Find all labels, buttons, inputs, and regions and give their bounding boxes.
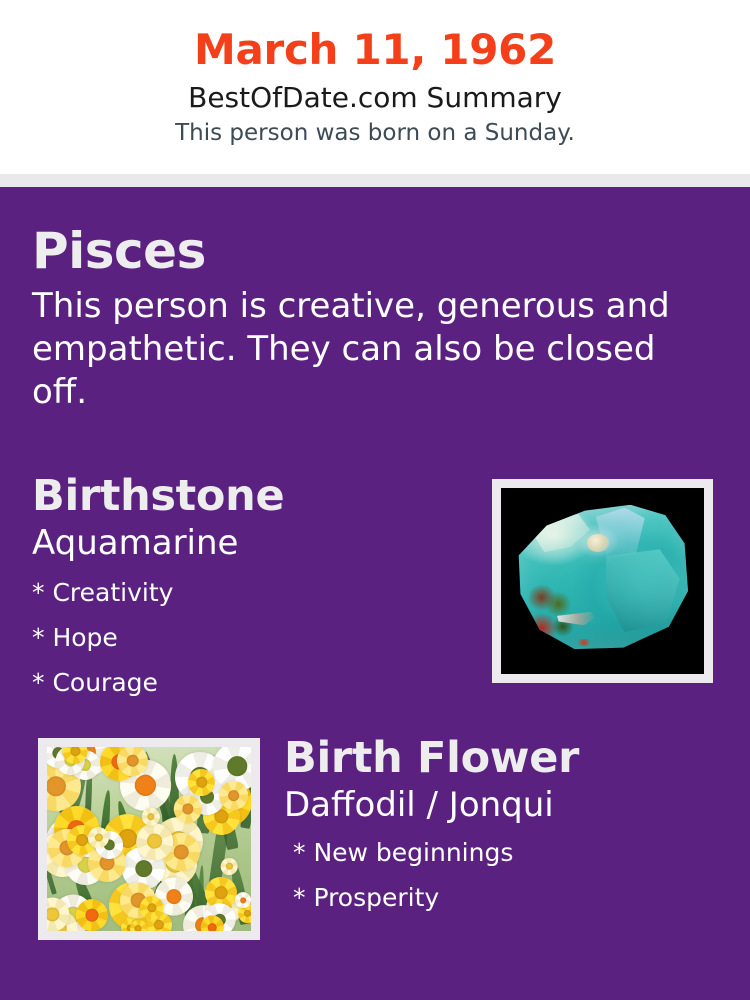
list-item: * Creativity (32, 570, 472, 615)
list-item: * Hope (32, 615, 472, 660)
birthstone-section: Birthstone Aquamarine * Creativity * Hop… (32, 470, 472, 705)
zodiac-description: This person is creative, generous and em… (32, 285, 704, 414)
divider-top-line (0, 170, 750, 174)
page-title-date: March 11, 1962 (0, 24, 750, 76)
birthflower-heading: Birth Flower (284, 732, 724, 784)
crystal-facet-icon (606, 549, 683, 635)
zodiac-sign-name: Pisces (32, 222, 722, 280)
birthflower-section: Birth Flower Daffodil / Jonqui * New beg… (284, 732, 724, 920)
birthstone-image-frame (492, 479, 713, 683)
list-item: * New beginnings (284, 830, 724, 875)
crystal-redpoint-icon (576, 639, 592, 646)
birthstone-heading: Birthstone (32, 470, 472, 522)
crystal-body (515, 505, 690, 654)
aquamarine-crystal-photo (501, 488, 704, 674)
birthflower-trait-list: * New beginnings * Prosperity (284, 830, 724, 920)
crystal-inclusion-icon (524, 579, 583, 644)
header: March 11, 1962 BestOfDate.com Summary Th… (0, 0, 750, 170)
summary-card: March 11, 1962 BestOfDate.com Summary Th… (0, 0, 750, 1000)
birthstone-trait-list: * Creativity * Hope * Courage (32, 570, 472, 705)
birthflower-name: Daffodil / Jonqui (284, 784, 724, 826)
list-item: * Courage (32, 660, 472, 705)
birthstone-name: Aquamarine (32, 522, 472, 564)
daffodil-field-photo (47, 747, 251, 931)
birthflower-image-frame (38, 738, 260, 940)
zodiac-section: Pisces This person is creative, generous… (32, 222, 722, 414)
list-item: * Prosperity (284, 875, 724, 920)
header-divider (0, 170, 750, 187)
born-weekday-text: This person was born on a Sunday. (0, 118, 750, 148)
site-name: BestOfDate.com Summary (0, 80, 750, 116)
